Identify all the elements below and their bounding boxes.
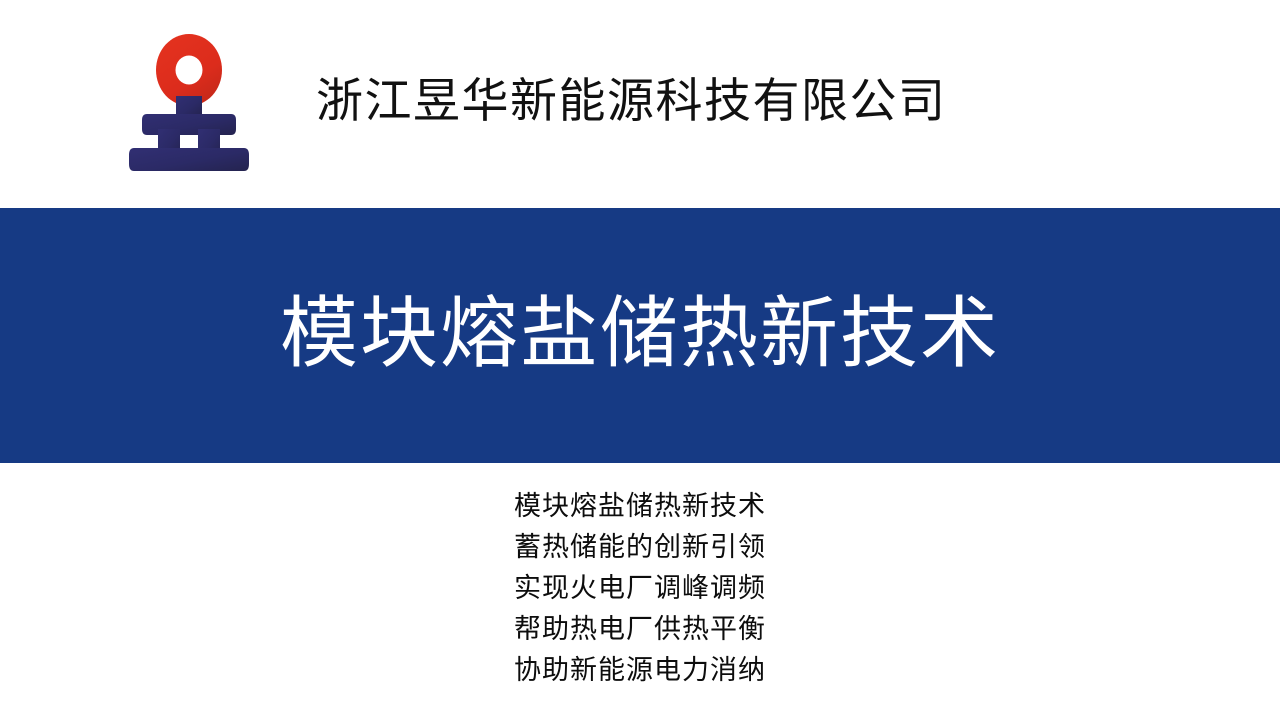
company-name: 浙江昱华新能源科技有限公司 [316,74,1036,134]
tagline-line: 帮助热电厂供热平衡 [0,609,1280,650]
logo-pedestal-shape [129,96,249,171]
slide-title: 模块熔盐储热新技术 [0,208,1280,463]
title-banner: 模块熔盐储热新技术 [0,208,1280,463]
company-logo-ring-and-pedestal-icon [120,30,262,174]
slide-header: 浙江昱华新能源科技有限公司 [0,0,1280,208]
company-logo [120,30,262,174]
presentation-slide: 浙江昱华新能源科技有限公司 模块熔盐储热新技术 模块熔盐储热新技术 蓄热储能的创… [0,0,1280,720]
logo-ring-shape [156,34,222,106]
tagline-line: 蓄热储能的创新引领 [0,527,1280,568]
tagline-line: 实现火电厂调峰调频 [0,568,1280,609]
tagline-line: 协助新能源电力消纳 [0,650,1280,691]
tagline-line: 模块熔盐储热新技术 [0,486,1280,527]
tagline-list: 模块熔盐储热新技术 蓄热储能的创新引领 实现火电厂调峰调频 帮助热电厂供热平衡 … [0,486,1280,691]
